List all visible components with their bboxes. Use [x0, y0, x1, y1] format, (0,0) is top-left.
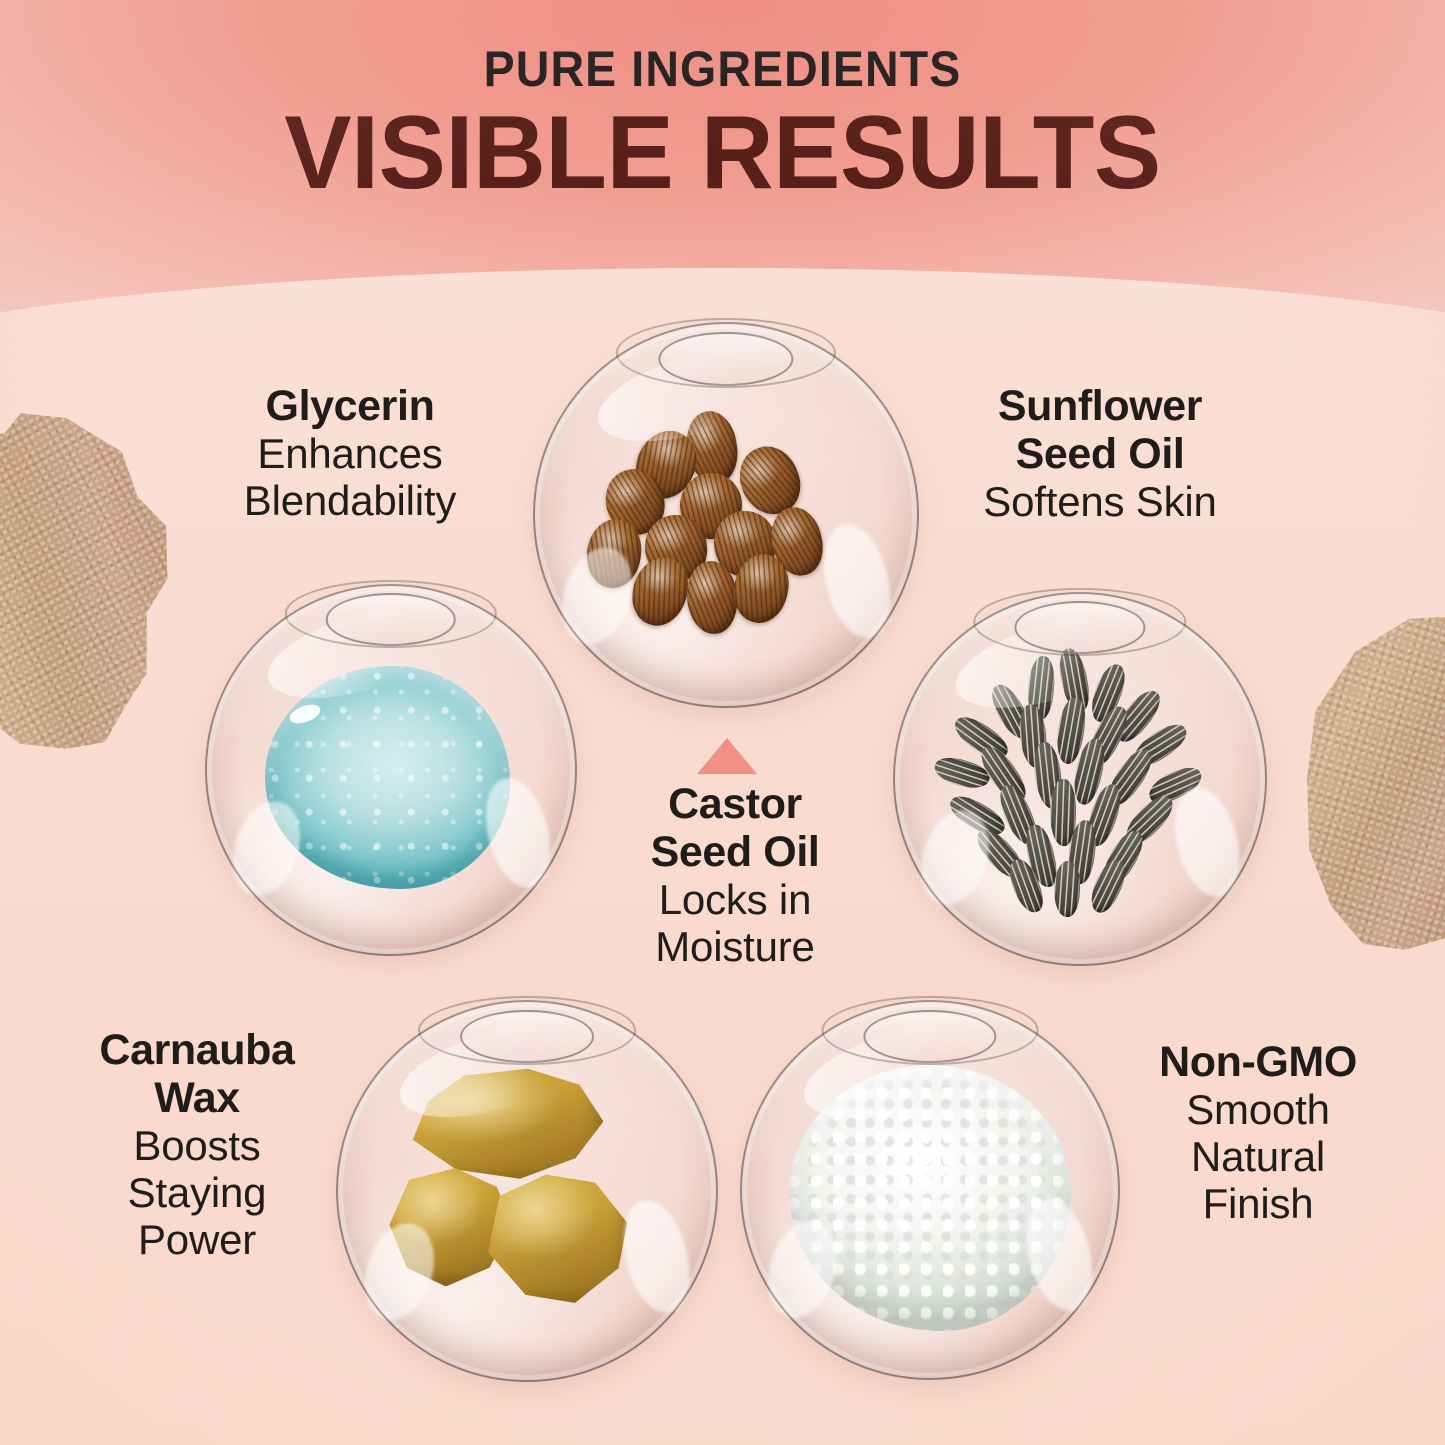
ingredient-orb-glycerin [205, 584, 577, 956]
ingredient-title: Glycerin [170, 382, 530, 430]
ingredient-title: Seed Oil [930, 430, 1270, 478]
ingredient-benefit-line: Blendability [170, 477, 530, 524]
headline-block: PURE INGREDIENTS VISIBLE RESULTS [0, 44, 1445, 206]
ingredient-benefit-line: Natural [1108, 1133, 1408, 1180]
ingredient-benefit-line: Power [42, 1216, 352, 1263]
ingredient-benefit-line: Moisture [600, 923, 870, 970]
headline-kicker: PURE INGREDIENTS [51, 44, 1395, 94]
glass-rim [740, 1000, 1120, 1380]
ingredient-title: Wax [42, 1074, 352, 1122]
ingredient-benefit-line: Softens Skin [930, 478, 1270, 525]
infographic-canvas: PURE INGREDIENTS VISIBLE RESULTS [0, 0, 1445, 1445]
ingredient-label-glycerin: Glycerin Enhances Blendability [170, 382, 530, 524]
glass-rim [336, 1000, 718, 1382]
glass-rim [533, 322, 919, 708]
ingredient-label-carnauba: Carnauba Wax Boosts Staying Power [42, 1026, 352, 1263]
ingredient-title: Sunflower [930, 382, 1270, 430]
ingredient-benefit-line: Locks in [600, 876, 870, 923]
ingredient-benefit-line: Boosts [42, 1122, 352, 1169]
ingredient-benefit-line: Enhances [170, 430, 530, 477]
ingredient-label-castor: Castor Seed Oil Locks in Moisture [600, 780, 870, 970]
glass-rim [205, 584, 577, 956]
ingredient-title: Castor [600, 780, 870, 828]
ingredient-benefit-line: Smooth [1108, 1086, 1408, 1133]
ingredient-orb-carnauba [336, 1000, 718, 1382]
ingredient-label-sunflower: Sunflower Seed Oil Softens Skin [930, 382, 1270, 525]
ingredient-label-nongmo: Non-GMO Smooth Natural Finish [1108, 1038, 1408, 1227]
ingredient-orb-nongmo [740, 1000, 1120, 1380]
ingredient-title: Seed Oil [600, 828, 870, 876]
ingredient-title: Non-GMO [1108, 1038, 1408, 1086]
ingredient-benefit-line: Finish [1108, 1180, 1408, 1227]
ingredient-orb-sunflower [893, 592, 1267, 966]
glass-rim [893, 592, 1267, 966]
headline-hero: VISIBLE RESULTS [22, 100, 1424, 206]
castor-pointer-triangle-icon [697, 738, 757, 774]
ingredient-title: Carnauba [42, 1026, 352, 1074]
ingredient-orb-castor [533, 322, 919, 708]
ingredient-benefit-line: Staying [42, 1169, 352, 1216]
